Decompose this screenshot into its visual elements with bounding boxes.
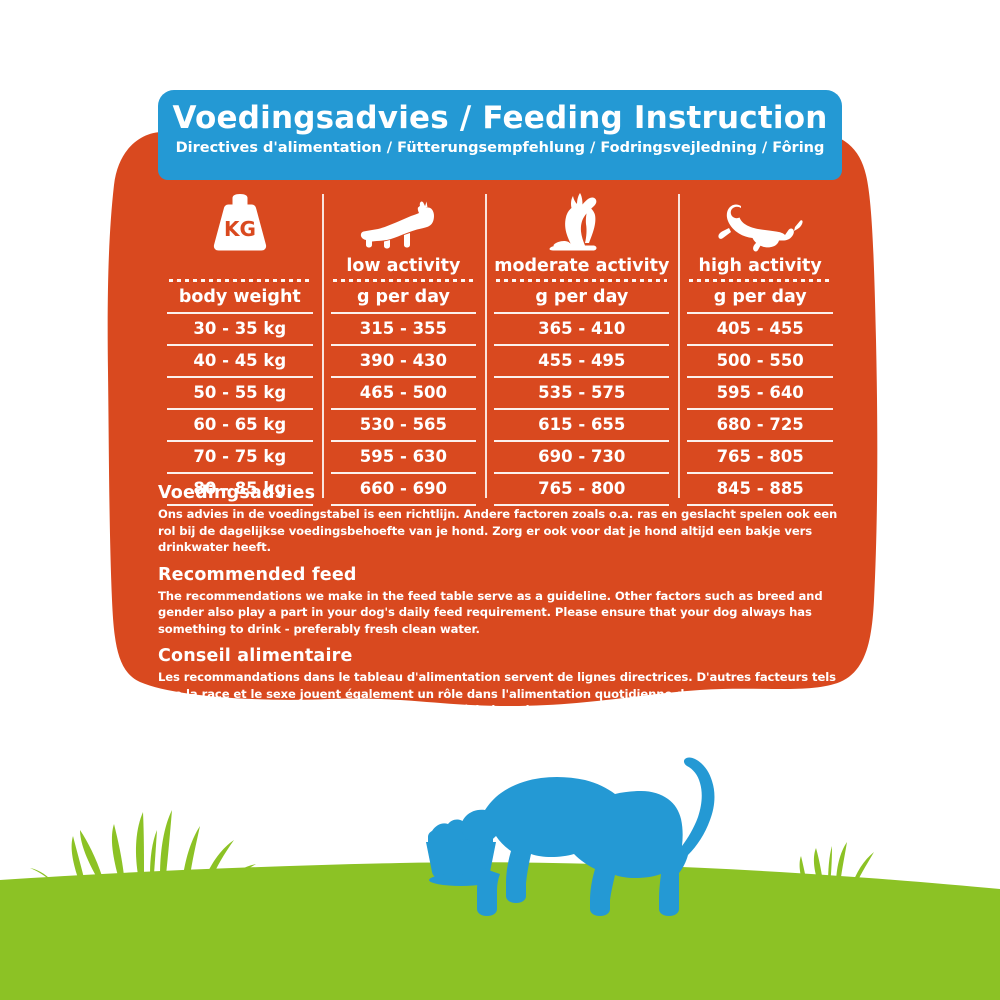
grass-hill [0,862,1000,1000]
note-block-fr: Conseil alimentaire Les recommandations … [158,645,848,719]
column-title-low-activity: low activity [331,254,477,278]
note-body: The recommendations we make in the feed … [158,588,848,638]
note-heading: Conseil alimentaire [158,645,848,668]
table-cell: 465 - 500 [331,376,477,408]
notes-section: Voedingsadvies Ons advies in de voedings… [158,482,848,719]
feeding-table: KG body weight 30 - 35 kg 40 - 45 kg 50 … [158,192,842,506]
table-cell: 500 - 550 [687,344,833,376]
table-cell: 595 - 630 [331,440,477,472]
table-cell: 365 - 410 [494,312,669,344]
table-cell: 690 - 730 [494,440,669,472]
dog-jumping-icon [687,192,833,254]
page-title: Voedingsadvies / Feeding Instruction [158,99,842,137]
note-heading: Recommended feed [158,564,848,587]
table-column-low-activity: low activity g per day 315 - 355 390 - 4… [322,192,486,506]
table-cell: 405 - 455 [687,312,833,344]
table-cell: 535 - 575 [494,376,669,408]
table-cell: 615 - 655 [494,408,669,440]
bottom-scene [0,700,1000,1000]
svg-text:KG: KG [224,217,256,241]
column-unit-low-activity: g per day [331,282,477,312]
table-column-high-activity: high activity g per day 405 - 455 500 - … [678,192,842,506]
column-unit-moderate-activity: g per day [494,282,669,312]
table-cell: 455 - 495 [494,344,669,376]
table-cell: 530 - 565 [331,408,477,440]
note-heading: Voedingsadvies [158,482,848,505]
table-cell: 315 - 355 [331,312,477,344]
table-cell: 70 - 75 kg [167,440,313,472]
header-ribbon: Voedingsadvies / Feeding Instruction Dir… [158,90,842,180]
column-title-high-activity: high activity [687,254,833,278]
table-cell: 40 - 45 kg [167,344,313,376]
note-body: Les recommandations dans le tableau d'al… [158,669,848,719]
table-cell: 390 - 430 [331,344,477,376]
dog-sitting-icon [494,192,669,254]
table-cell: 680 - 725 [687,408,833,440]
note-block-en: Recommended feed The recommendations we … [158,564,848,638]
table-cell: 595 - 640 [687,376,833,408]
table-cell: 30 - 35 kg [167,312,313,344]
table-cell: 765 - 805 [687,440,833,472]
column-unit-body-weight: body weight [167,282,313,312]
table-cell: 50 - 55 kg [167,376,313,408]
table-cell: 60 - 65 kg [167,408,313,440]
table-column-moderate-activity: moderate activity g per day 365 - 410 45… [485,192,678,506]
dog-lying-icon [331,192,477,254]
note-body: Ons advies in de voedingstabel is een ri… [158,506,848,556]
column-unit-high-activity: g per day [687,282,833,312]
column-title-moderate-activity: moderate activity [494,254,669,278]
weight-kg-icon: KG [167,192,313,254]
page-subtitle: Directives d'alimentation / Fütterungsem… [158,138,842,158]
table-column-body-weight: KG body weight 30 - 35 kg 40 - 45 kg 50 … [158,192,322,506]
infographic-root: Voedingsadvies / Feeding Instruction Dir… [0,0,1000,1000]
note-block-nl: Voedingsadvies Ons advies in de voedings… [158,482,848,556]
